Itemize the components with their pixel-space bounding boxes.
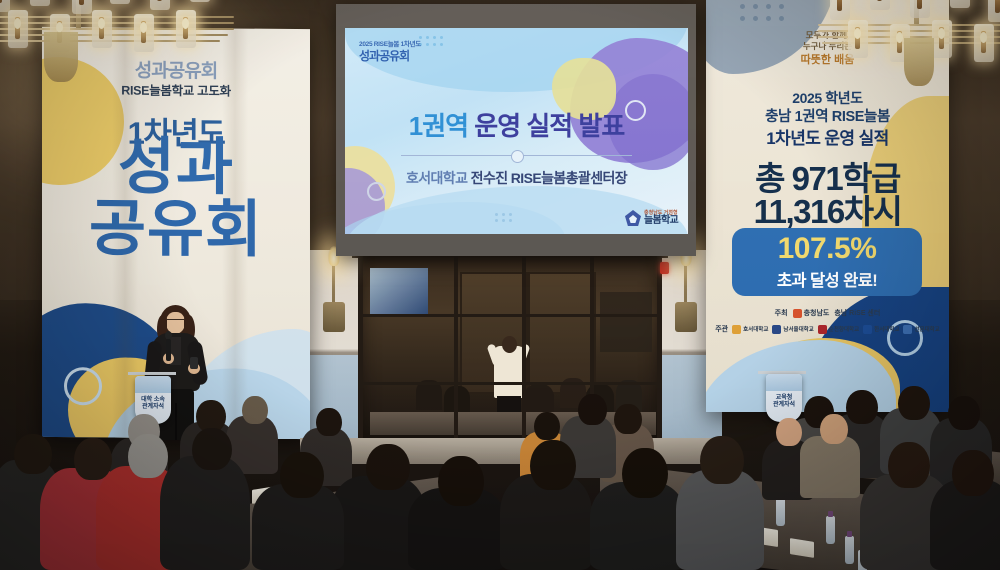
attendee-head — [948, 396, 980, 430]
host-label: 주최 — [775, 308, 788, 318]
scene-root: 성과공유회 RISE늘봄학교 고도화 1차년도 성과 공유회 모두가 함께, 누… — [0, 0, 1000, 570]
attendee-head — [700, 436, 744, 484]
achievement-badge: 107.5% 초과 달성 완료! — [732, 228, 922, 296]
right-banner-year1: 1차년도 운영 실적 — [706, 124, 949, 149]
fire-alarm-icon — [660, 262, 669, 274]
left-banner-line2: 성과 — [42, 137, 310, 200]
chandelier-right — [818, 0, 1000, 86]
slide-title-highlight: 1권역 — [409, 111, 468, 141]
organizer-row: 주관 호서대학교 남서울대학교 순천향대학교 한서대학교 선문대학교 — [706, 324, 949, 334]
attendee-head — [366, 444, 410, 490]
host-row: 주최 충청남도 충남 RiSE 센터 — [706, 308, 949, 318]
attendee-head — [280, 452, 324, 498]
slide-title: 1권역 운영 실적 발표 — [345, 106, 688, 143]
attendee-head — [242, 396, 268, 424]
attendee-head — [776, 418, 802, 446]
attendee-head — [534, 412, 560, 440]
attendee-head — [578, 394, 607, 425]
organizer-4: 선문대학교 — [914, 325, 939, 333]
attendee — [160, 456, 250, 570]
chungnam-mark-icon — [793, 309, 802, 318]
chandelier-left — [0, 0, 244, 90]
water-bottle — [845, 536, 854, 564]
attendee-head — [192, 428, 232, 470]
slide-logo-small: 2025 RISE늘봄 1차년도 — [359, 38, 421, 48]
stat-total-sessions: 11,316차시 — [706, 185, 949, 233]
attendee-head — [898, 386, 930, 420]
audience-area — [0, 388, 1000, 570]
slide-title-rest: 운영 실적 발표 — [468, 111, 624, 141]
presentation-slide: 2025 RISE늘봄 1차년도 성과공유회 1권역 운영 실적 발표 호서대학… — [345, 28, 688, 234]
host-org1: 충청남도 — [804, 308, 830, 318]
host-org2: 충남 RiSE 센터 — [834, 308, 880, 318]
attendee-head — [614, 404, 642, 434]
slide-brand-logo: 충청남도 거점형 늘봄학교 — [625, 210, 678, 226]
attendee-head — [316, 408, 342, 436]
organizer-label: 주관 — [715, 324, 728, 334]
slide-dot-grid-top — [419, 36, 449, 52]
organizer-3: 한서대학교 — [874, 325, 899, 333]
presenter-org: 호서대학교 — [406, 170, 467, 186]
attendee-head — [74, 438, 112, 480]
slide-divider-dot-icon — [511, 150, 524, 163]
right-banner-region: 충남 1권역 RISE늘봄 — [706, 105, 949, 126]
water-bottle — [776, 498, 785, 526]
placard-rod-left — [128, 372, 176, 375]
attendee-head — [128, 434, 168, 478]
attendee-head — [530, 440, 576, 490]
attendee-head — [622, 448, 668, 498]
dot-grid-decoration — [740, 4, 800, 30]
attendee-head — [888, 442, 930, 488]
attendee-head — [820, 414, 848, 444]
brand-name: 늘봄학교 — [644, 216, 678, 226]
achievement-percent: 107.5% — [778, 234, 877, 264]
slide-dot-grid-bottom — [495, 213, 525, 229]
slide-logo-big: 성과공유회 — [359, 47, 421, 64]
organizer-0: 호서대학교 — [743, 325, 768, 333]
attendee-head — [846, 390, 878, 424]
attendee — [800, 436, 860, 498]
attendee-head — [14, 434, 52, 474]
attendee-head — [438, 456, 484, 506]
neulbom-house-icon — [625, 210, 641, 226]
presenter-name: 전수진 RISE늘봄총괄센터장 — [467, 170, 627, 186]
organizer-2: 순천향대학교 — [829, 325, 859, 333]
slide-presenter: 호서대학교 전수진 RISE늘봄총괄센터장 — [345, 168, 688, 188]
water-bottle — [826, 516, 835, 544]
attendee-head — [952, 450, 994, 496]
attendee — [676, 470, 764, 570]
organizer-1: 남서울대학교 — [783, 325, 813, 333]
left-banner-line3: 공유회 — [42, 199, 310, 262]
slide-event-logo: 2025 RISE늘봄 1차년도 성과공유회 — [359, 38, 421, 64]
achievement-caption: 초과 달성 완료! — [777, 267, 877, 291]
